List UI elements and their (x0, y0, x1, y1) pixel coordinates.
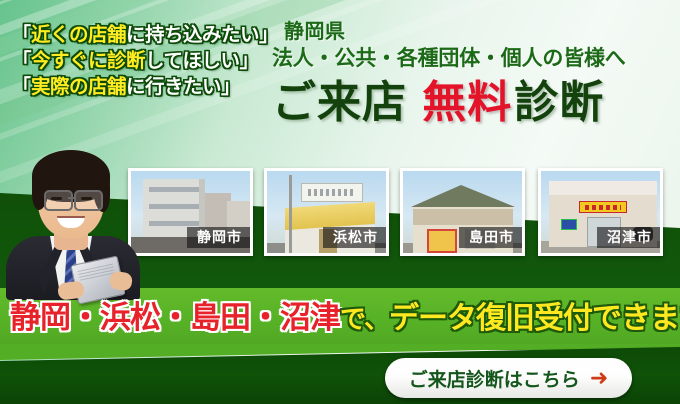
thumb2-utility-pole (289, 175, 292, 255)
quote-highlight-1: 近くの店舗 (31, 24, 126, 46)
store-thumbnail-hamamatsu[interactable]: 浜松市 (264, 168, 389, 256)
quote-line-2: 「今すぐに診断してほしい」 (12, 48, 282, 74)
strip-message: 静岡・浜松・島田・沼津で、データ復旧受付できます！ (10, 296, 680, 341)
quote-open-3: 「 (12, 76, 31, 98)
headline-prefecture: 静岡県 (272, 20, 672, 45)
strip-connector: で、 (340, 304, 389, 334)
headline-main-lead: ご来店 (272, 78, 407, 127)
quote-open-2: 「 (12, 50, 31, 72)
quote-rest-2: してほしい (145, 50, 239, 72)
store-label-numazu: 沼津市 (597, 227, 660, 248)
staff-eye-right (81, 197, 92, 200)
customer-quotes: 「近くの店舗に持ち込みたい」 「今すぐに診断してほしい」 「実際の店舗に行きたい… (12, 22, 282, 100)
staff-photo (0, 140, 150, 300)
thumb3-facade-band (413, 209, 513, 225)
staff-eye-left (51, 197, 62, 200)
store-diagnosis-banner: 「近くの店舗に持ち込みたい」 「今すぐに診断してほしい」 「実際の店舗に行きたい… (0, 0, 680, 404)
store-label-shizuoka: 静岡市 (187, 227, 250, 248)
quote-close-3: 」 (221, 76, 240, 98)
headline-main: ご来店 無料診断 (272, 77, 672, 129)
headline-main-tail: 診断 (514, 78, 604, 127)
store-label-hamamatsu: 浜松市 (323, 227, 386, 248)
thumb3-entrance (427, 229, 457, 253)
headline-free: 無料 (422, 78, 512, 127)
staff-glasses-left (44, 190, 73, 211)
thumb2-signboard (301, 183, 363, 202)
thumb4-shop-sign (579, 201, 627, 213)
quote-line-1: 「近くの店舗に持ち込みたい」 (12, 22, 282, 48)
staff-glasses-right (74, 190, 103, 211)
strip-service: データ復旧受付できます (389, 302, 680, 335)
cta-label: ご来店診断はこちら (409, 365, 580, 392)
streak-1 (0, 0, 680, 19)
store-thumbnail-shimada[interactable]: 島田市 (400, 168, 525, 256)
headline-audience: 法人・公共・各種団体・個人の皆様へ (272, 45, 672, 72)
quote-highlight-3: 実際の店舗 (31, 76, 126, 98)
thumb4-upper-floor (549, 181, 657, 195)
cta-button[interactable]: ご来店診断はこちら ➜ (385, 358, 632, 398)
thumb4-small-sign (561, 219, 577, 230)
strip-cities: 静岡・浜松・島田・沼津 (10, 300, 340, 335)
staff-glasses-bridge (68, 197, 75, 199)
headline-block: 静岡県 法人・公共・各種団体・個人の皆様へ ご来店 無料診断 (272, 20, 672, 129)
arrow-right-icon: ➜ (590, 367, 608, 389)
quote-close-2: 」 (239, 50, 258, 72)
quote-line-3: 「実際の店舗に行きたい」 (12, 74, 282, 100)
store-thumbnail-numazu[interactable]: 沼津市 (538, 168, 663, 256)
quote-rest-1: に持ち込みたい (126, 24, 259, 46)
quote-highlight-2: 今すぐに診断 (31, 50, 145, 72)
quote-rest-3: に行きたい (126, 76, 221, 98)
store-label-shimada: 島田市 (459, 227, 522, 248)
quote-open-1: 「 (12, 24, 31, 46)
